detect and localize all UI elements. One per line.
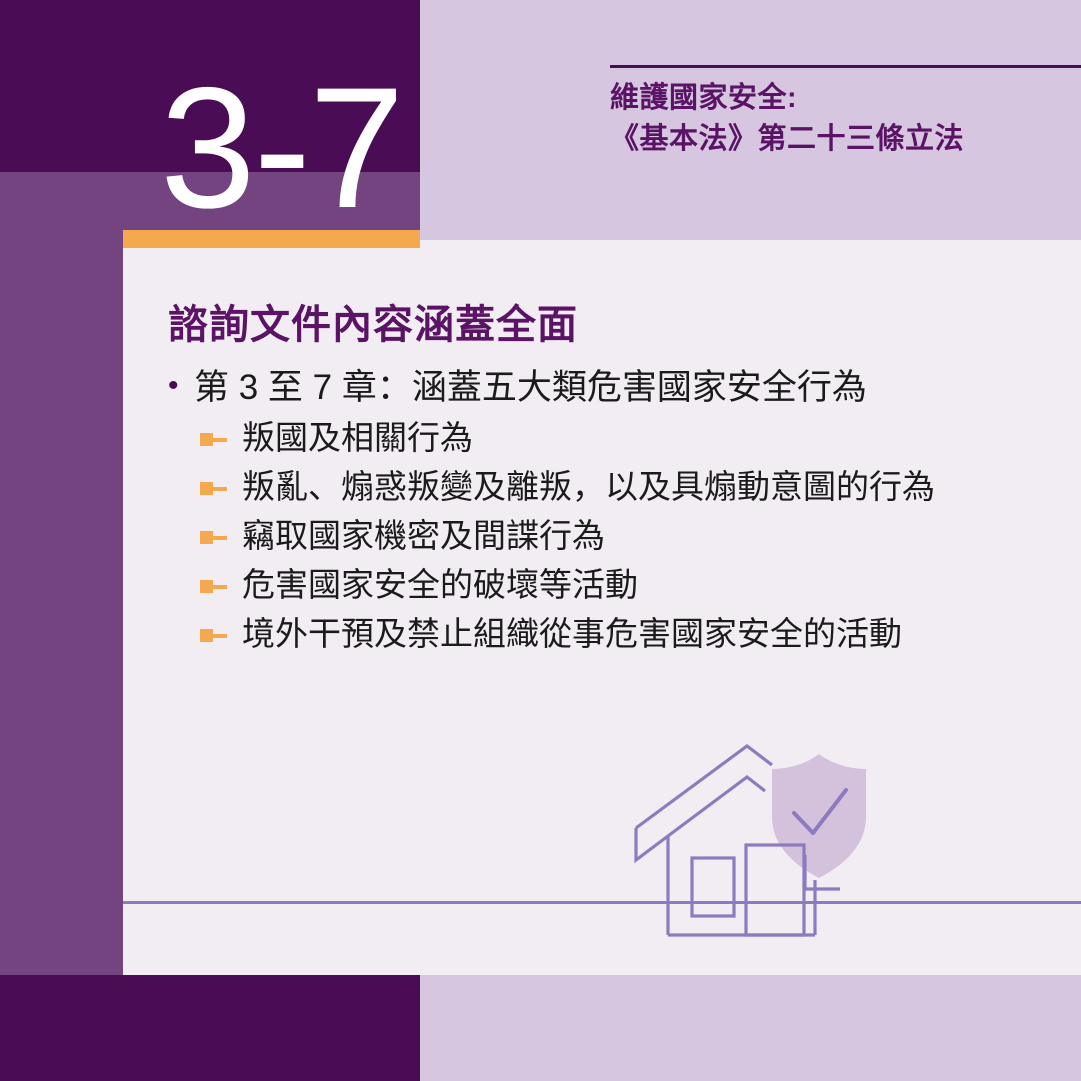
header-title: 維護國家安全: 《基本法》第二十三條立法 [610,78,1070,160]
arrow-marker-icon [200,466,242,508]
list-item-main: • 第 3 至 7 章：涵蓋五大類危害國家安全行為 [168,366,1048,409]
list-item-label: 叛國及相關行為 [242,417,1048,459]
arrow-marker-icon [200,417,242,459]
house-with-shield-illustration [620,740,910,950]
list-item: 境外干預及禁止組織從事危害國家安全的活動 [200,613,1048,655]
list-item-label: 境外干預及禁止組織從事危害國家安全的活動 [242,613,1048,655]
header-divider-rule [610,65,1081,68]
bullet-list: • 第 3 至 7 章：涵蓋五大類危害國家安全行為 叛國及相關行為 叛亂、煽惑叛… [168,366,1048,662]
page-title: 諮詢文件內容涵蓋全面 [168,292,578,350]
slide-root: 3-7 維護國家安全: 《基本法》第二十三條立法 諮詢文件內容涵蓋全面 • 第 … [0,0,1081,1081]
header-title-line-2: 《基本法》第二十三條立法 [610,119,1070,160]
bullet-dot-icon: • [168,366,194,407]
sub-bullet-list: 叛國及相關行為 叛亂、煽惑叛變及離叛，以及具煽動意圖的行為 竊取國家機密及間諜行… [200,417,1048,655]
list-item-label: 竊取國家機密及間諜行為 [242,515,1048,557]
list-item-main-label: 第 3 至 7 章：涵蓋五大類危害國家安全行為 [194,366,1048,409]
background-dark-bottom-block [0,975,420,1081]
arrow-marker-icon [200,564,242,606]
list-item: 竊取國家機密及間諜行為 [200,515,1048,557]
header-title-line-1: 維護國家安全: [610,78,1070,119]
list-item-label: 叛亂、煽惑叛變及離叛，以及具煽動意圖的行為 [242,466,1048,508]
list-item-label: 危害國家安全的破壞等活動 [242,564,1048,606]
ground-line [123,901,1081,904]
chapter-number: 3-7 [160,62,403,234]
list-item: 危害國家安全的破壞等活動 [200,564,1048,606]
shield-check-icon [772,754,866,878]
list-item: 叛亂、煽惑叛變及離叛，以及具煽動意圖的行為 [200,466,1048,508]
arrow-marker-icon [200,515,242,557]
list-item: 叛國及相關行為 [200,417,1048,459]
arrow-marker-icon [200,613,242,655]
